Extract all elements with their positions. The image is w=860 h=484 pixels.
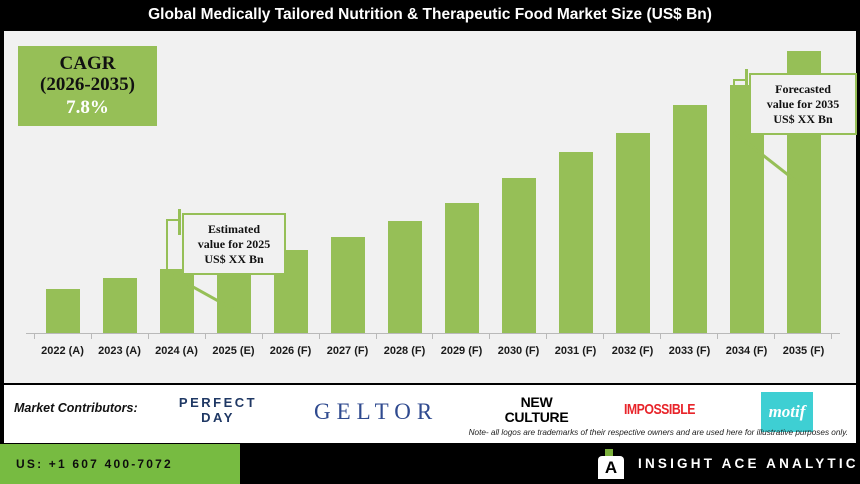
bar-slot [547,31,604,333]
logo-perfect-day: PERFECT DAY [170,395,266,425]
bar-slot [34,31,91,333]
chart-bar[interactable] [616,133,650,333]
x-axis-tick [774,333,775,339]
logo-geltor: GELTOR [314,399,438,425]
x-axis-ticks [34,333,832,339]
callout-estimated-bracket [166,219,178,271]
logo-new-culture: NEW CULTURE [489,395,584,425]
brand-block: A INSIGHT ACE ANALYTIC [598,443,859,484]
x-axis-label: 2024 (A) [148,345,205,357]
logo-perfect-day-line2: DAY [170,410,266,425]
x-axis-tick [376,333,377,339]
x-axis-tick [660,333,661,339]
chart-bar[interactable] [673,105,707,333]
chart-bar[interactable] [331,237,365,333]
bar-slot [661,31,718,333]
x-axis-tick [717,333,718,339]
x-axis-label: 2031 (F) [547,345,604,357]
x-axis-label: 2032 (F) [604,345,661,357]
trademark-note: Note- all logos are trademarks of their … [469,428,848,437]
x-axis-label: 2028 (F) [376,345,433,357]
callout-forecasted-line3: US$ XX Bn [773,112,832,127]
title-bar: Global Medically Tailored Nutrition & Th… [0,0,860,30]
x-axis-label: 2033 (F) [661,345,718,357]
market-contributors-label: Market Contributors: [14,401,138,415]
callout-forecasted-stem [745,69,748,95]
chart-bar[interactable] [103,278,137,333]
chart-bar[interactable] [388,221,422,333]
x-axis-tick [831,333,832,339]
plot-area [26,31,840,333]
brand-name: INSIGHT ACE ANALYTIC [638,456,859,471]
callout-forecasted-line2: value for 2035 [767,97,839,112]
logo-letter-a: A [598,456,624,479]
callout-forecasted-2035: Forecasted value for 2035 US$ XX Bn [749,73,857,135]
callout-estimated-stem [178,209,181,235]
x-axis-tick [432,333,433,339]
x-axis-tick [205,333,206,339]
x-axis-tick [319,333,320,339]
bar-slot [376,31,433,333]
bar-slot [604,31,661,333]
bar-series [34,31,832,333]
logo-motif: motif [761,392,813,432]
x-axis-tick [34,333,35,339]
footer-contact-block: US: +1 607 400-7072 [0,444,240,484]
callout-estimated-line1: Estimated [208,222,260,237]
x-axis-label: 2022 (A) [34,345,91,357]
chart-bar[interactable] [46,289,80,333]
x-axis-label: 2023 (A) [91,345,148,357]
x-axis-tick [262,333,263,339]
x-axis-label: 2025 (E) [205,345,262,357]
infographic-root: Global Medically Tailored Nutrition & Th… [0,0,860,484]
logo-impossible: IMPOSSIBLE [624,401,695,418]
bar-slot [433,31,490,333]
chart-bar[interactable] [445,203,479,333]
market-contributors-strip: Market Contributors: PERFECT DAY GELTOR … [4,385,856,443]
page-title: Global Medically Tailored Nutrition & Th… [148,6,712,24]
callout-estimated-line3: US$ XX Bn [204,252,263,267]
callout-estimated-2025: Estimated value for 2025 US$ XX Bn [182,213,286,275]
x-axis-tick [91,333,92,339]
insight-ace-logo-icon: A [598,449,624,479]
bar-slot [490,31,547,333]
callout-forecasted-line1: Forecasted [775,82,831,97]
bar-slot [91,31,148,333]
logo-perfect-day-line1: PERFECT [170,395,266,410]
x-axis-label: 2029 (F) [433,345,490,357]
x-axis-label: 2027 (F) [319,345,376,357]
x-axis-tick [603,333,604,339]
callout-estimated-line2: value for 2025 [198,237,270,252]
logo-new-culture-line2: CULTURE [489,410,584,425]
bar-slot [319,31,376,333]
chart-bar[interactable] [502,178,536,333]
x-axis-tick [148,333,149,339]
footer-bar: US: +1 607 400-7072 A INSIGHT ACE ANALYT… [0,443,860,484]
chart-bar[interactable] [559,152,593,333]
bar-slot [262,31,319,333]
logo-motif-text: motif [769,402,806,422]
x-axis-label: 2035 (F) [775,345,832,357]
logo-new-culture-line1: NEW [489,395,584,410]
x-axis-tick [489,333,490,339]
bar-slot [205,31,262,333]
chart-panel: CAGR (2026-2035) 7.8% 2022 (A)2023 (A)20… [4,31,856,383]
callout-forecasted-bracket [733,79,745,131]
footer-phone-number: US: +1 607 400-7072 [16,457,173,471]
x-axis-label: 2030 (F) [490,345,547,357]
x-axis-label: 2026 (F) [262,345,319,357]
x-axis-tick [546,333,547,339]
x-axis-labels: 2022 (A)2023 (A)2024 (A)2025 (E)2026 (F)… [34,340,832,362]
x-axis-label: 2034 (F) [718,345,775,357]
